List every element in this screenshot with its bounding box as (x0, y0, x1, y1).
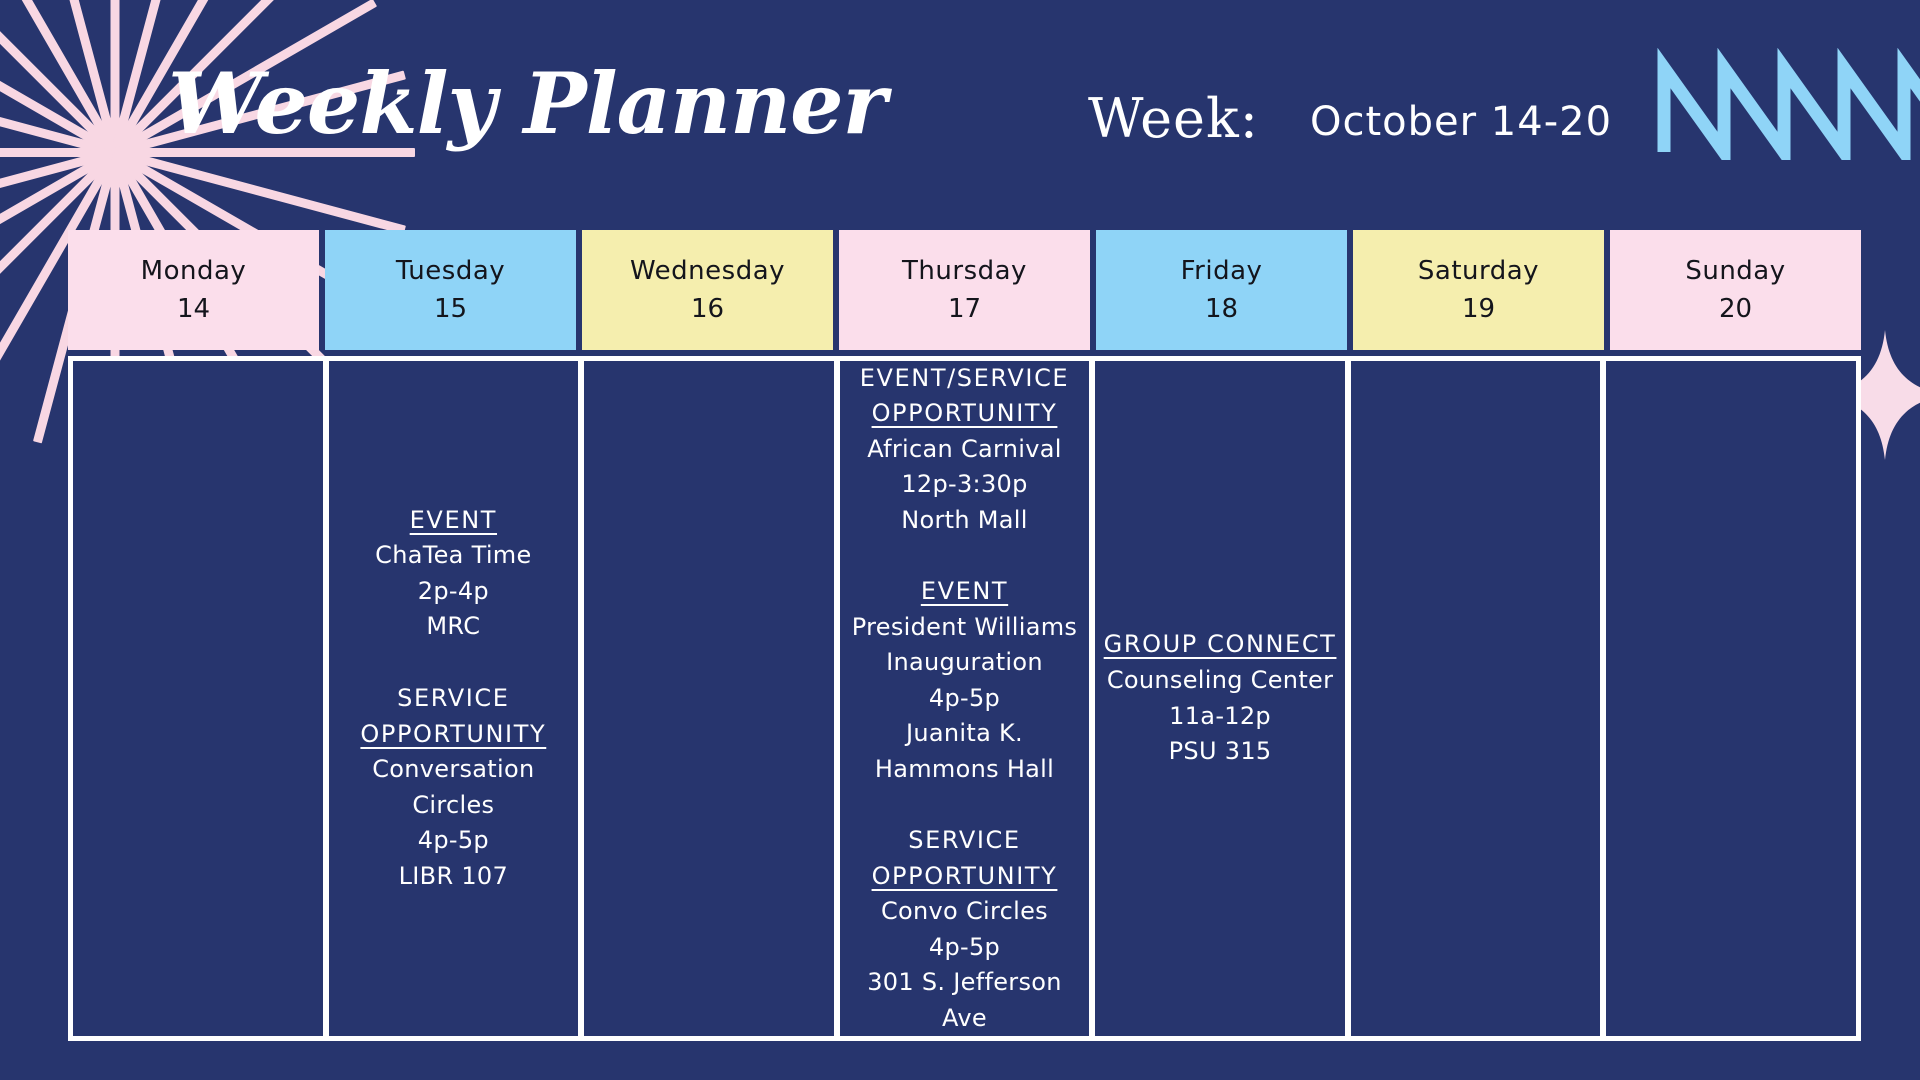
day-cell-wednesday[interactable] (584, 361, 834, 1036)
event-line: Circles (337, 788, 571, 824)
event-line: ChaTea Time (337, 538, 571, 574)
event-block[interactable]: EVENTChaTea Time2p-4pMRC (337, 503, 571, 645)
day-name: Saturday (1418, 255, 1539, 288)
event-kicker: SERVICEOPPORTUNITY (337, 681, 571, 752)
event-block[interactable]: EVENTPresident WilliamsInauguration4p-5p… (848, 574, 1082, 787)
calendar-grid: Monday14Tuesday15Wednesday16Thursday17Fr… (68, 230, 1861, 1041)
day-number: 14 (177, 293, 210, 326)
day-header-saturday[interactable]: Saturday19 (1353, 230, 1604, 350)
day-header-thursday[interactable]: Thursday17 (839, 230, 1090, 350)
event-kicker: EVENT/SERVICEOPPORTUNITY (848, 361, 1082, 432)
day-header-tuesday[interactable]: Tuesday15 (325, 230, 576, 350)
event-kicker-underlined: OPPORTUNITY (872, 399, 1058, 427)
event-line: Hammons Hall (848, 752, 1082, 788)
event-line: Juanita K. (848, 716, 1082, 752)
day-header-row: Monday14Tuesday15Wednesday16Thursday17Fr… (68, 230, 1861, 350)
page-title: Weekly Planner (168, 62, 886, 146)
event-line: 4p-5p (337, 823, 571, 859)
event-line: 12p-3:30p (848, 467, 1082, 503)
week-range-value: October 14-20 (1310, 102, 1612, 142)
event-kicker: EVENT (848, 574, 1082, 610)
event-line: Ave (848, 1001, 1082, 1036)
event-kicker-plain: SERVICE (397, 684, 509, 712)
day-header-wednesday[interactable]: Wednesday16 (582, 230, 833, 350)
event-kicker: SERVICEOPPORTUNITY (848, 823, 1082, 894)
day-cell-sunday[interactable] (1606, 361, 1856, 1036)
day-cell-saturday[interactable] (1351, 361, 1601, 1036)
event-block[interactable]: SERVICEOPPORTUNITYConversationCircles4p-… (337, 681, 571, 894)
day-name: Thursday (902, 255, 1027, 288)
day-cell-thursday[interactable]: EVENT/SERVICEOPPORTUNITYAfrican Carnival… (840, 361, 1090, 1036)
event-line: PSU 315 (1103, 734, 1337, 770)
week-label: Week: (1088, 92, 1259, 146)
day-cells-row: EVENTChaTea Time2p-4pMRCSERVICEOPPORTUNI… (68, 356, 1861, 1041)
event-line: North Mall (848, 503, 1082, 539)
day-name: Tuesday (396, 255, 505, 288)
day-cell-monday[interactable] (73, 361, 323, 1036)
event-line: MRC (337, 609, 571, 645)
day-number: 16 (691, 293, 724, 326)
weekly-planner-page: Weekly Planner Week: October 14-20 Monda… (0, 0, 1920, 1080)
event-line: 2p-4p (337, 574, 571, 610)
event-line: Inauguration (848, 645, 1082, 681)
day-header-sunday[interactable]: Sunday20 (1610, 230, 1861, 350)
day-name: Monday (141, 255, 247, 288)
day-header-friday[interactable]: Friday18 (1096, 230, 1347, 350)
event-kicker-underlined: EVENT (410, 506, 497, 534)
event-line: Convo Circles (848, 894, 1082, 930)
day-cell-friday[interactable]: GROUP CONNECTCounseling Center11a-12pPSU… (1095, 361, 1345, 1036)
day-number: 19 (1462, 293, 1495, 326)
day-name: Sunday (1685, 255, 1785, 288)
event-block[interactable]: EVENT/SERVICEOPPORTUNITYAfrican Carnival… (848, 361, 1082, 538)
event-line: LIBR 107 (337, 859, 571, 895)
day-name: Friday (1181, 255, 1263, 288)
event-kicker-plain: SERVICE (908, 826, 1020, 854)
event-kicker-underlined: EVENT (921, 577, 1008, 605)
event-kicker-plain: EVENT/SERVICE (860, 364, 1069, 392)
event-line: African Carnival (848, 432, 1082, 468)
event-line: President Williams (848, 610, 1082, 646)
day-header-monday[interactable]: Monday14 (68, 230, 319, 350)
day-name: Wednesday (630, 255, 785, 288)
event-line: 4p-5p (848, 930, 1082, 966)
day-number: 20 (1719, 293, 1752, 326)
event-line: 4p-5p (848, 681, 1082, 717)
event-line: 11a-12p (1103, 699, 1337, 735)
event-kicker-underlined: OPPORTUNITY (360, 720, 546, 748)
event-kicker: EVENT (337, 503, 571, 539)
day-number: 17 (948, 293, 981, 326)
day-cell-tuesday[interactable]: EVENTChaTea Time2p-4pMRCSERVICEOPPORTUNI… (329, 361, 579, 1036)
planner-header: Weekly Planner Week: October 14-20 (0, 0, 1920, 190)
day-number: 15 (434, 293, 467, 326)
event-block[interactable]: GROUP CONNECTCounseling Center11a-12pPSU… (1103, 627, 1337, 769)
event-kicker-underlined: OPPORTUNITY (872, 862, 1058, 890)
day-number: 18 (1205, 293, 1238, 326)
event-kicker-underlined: GROUP CONNECT (1104, 630, 1337, 658)
event-kicker: GROUP CONNECT (1103, 627, 1337, 663)
event-line: 301 S. Jefferson (848, 965, 1082, 1001)
event-line: Counseling Center (1103, 663, 1337, 699)
event-line: Conversation (337, 752, 571, 788)
event-block[interactable]: SERVICEOPPORTUNITYConvo Circles4p-5p301 … (848, 823, 1082, 1036)
